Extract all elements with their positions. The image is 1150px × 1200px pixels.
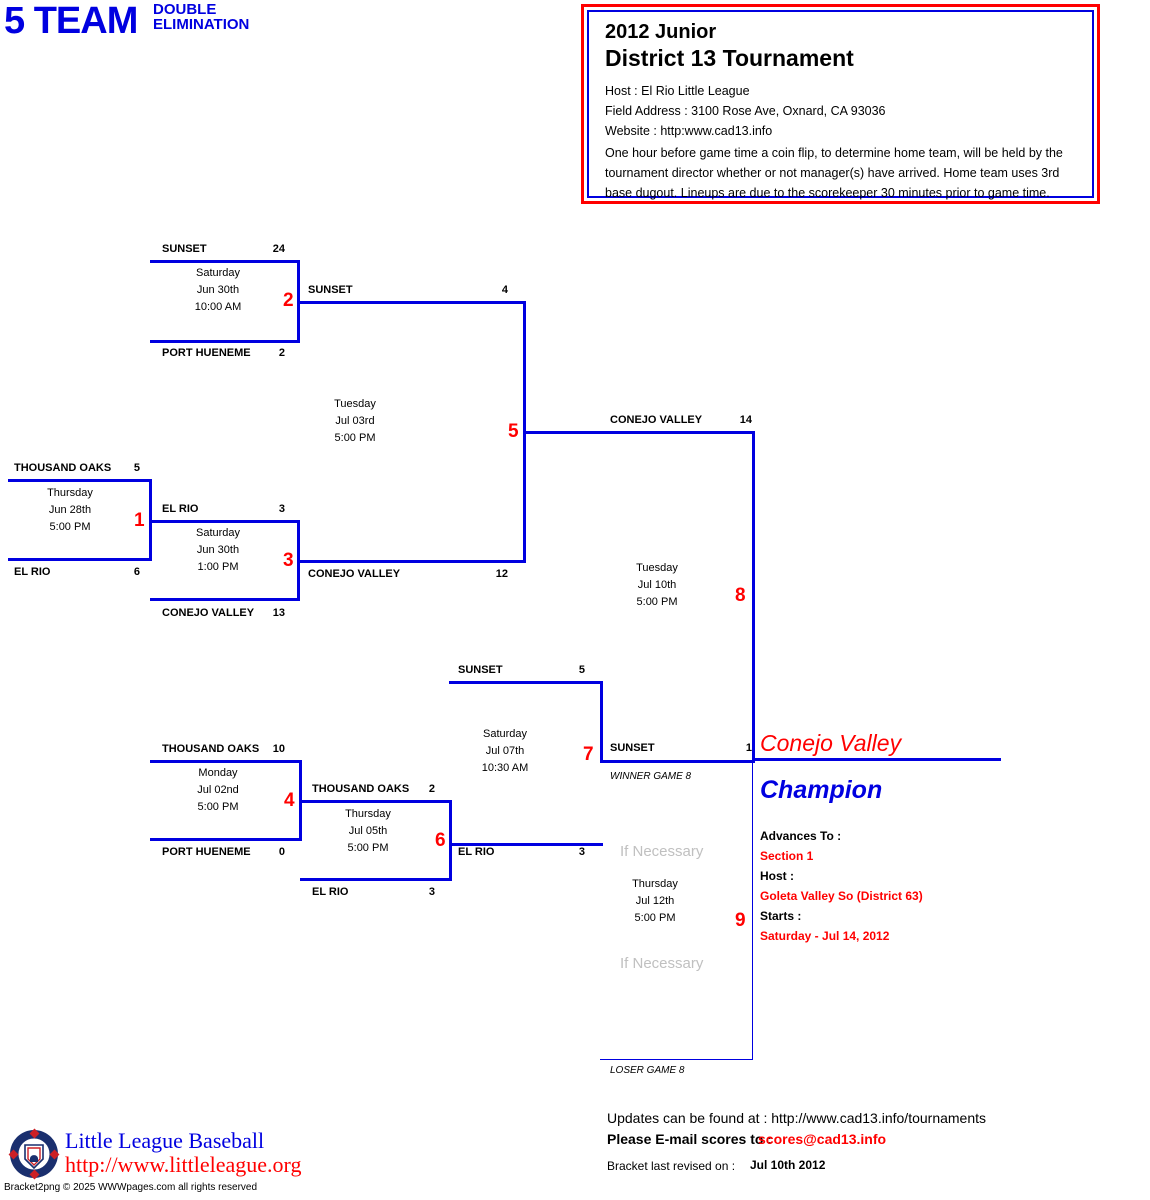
starts-label: Starts : — [760, 909, 801, 923]
game-7-number: 7 — [583, 744, 594, 766]
game-4-time: 5:00 PM — [163, 799, 273, 816]
little-league-name: Little League Baseball — [65, 1128, 264, 1154]
game-8-bottom-score: 1 — [722, 742, 752, 754]
game-5-bottom-line — [297, 560, 526, 563]
game-9-number: 9 — [735, 910, 746, 932]
game-8-datetime: Tuesday Jul 10th 5:00 PM — [602, 560, 712, 611]
game-7-top-team: SUNSET — [458, 664, 503, 676]
game-6-datetime: Thursday Jul 05th 5:00 PM — [313, 806, 423, 857]
game-2-time: 10:00 AM — [163, 299, 273, 316]
game-8-right-line — [752, 431, 755, 762]
game-2-number: 2 — [283, 290, 294, 312]
winner-game-8-note: WINNER GAME 8 — [610, 771, 691, 782]
game-6-time: 5:00 PM — [313, 840, 423, 857]
game-1-top-score: 5 — [110, 462, 140, 474]
copyright-text: Bracket2png © 2025 WWWpages.com all righ… — [4, 1182, 257, 1193]
game-2-bottom-score: 2 — [255, 347, 285, 359]
game-7-bottom-score: 3 — [555, 846, 585, 858]
game-6-top-team: THOUSAND OAKS — [312, 783, 409, 795]
tournament-name: District 13 Tournament — [605, 45, 854, 72]
game-5-date: Jul 03rd — [300, 413, 410, 430]
game-1-time: 5:00 PM — [15, 519, 125, 536]
champion-label: Champion — [760, 776, 882, 805]
game-5-time: 5:00 PM — [300, 430, 410, 447]
page-subtitle: DOUBLE ELIMINATION — [153, 2, 283, 32]
game-3-number: 3 — [283, 550, 294, 572]
game-6-bottom-score: 3 — [405, 886, 435, 898]
game-7-bottom-team: EL RIO — [458, 846, 494, 858]
game-4-date: Jul 02nd — [163, 782, 273, 799]
game-1-top-team: THOUSAND OAKS — [14, 462, 111, 474]
game-9-datetime: Thursday Jul 12th 5:00 PM — [600, 876, 710, 927]
game-9-top-team: If Necessary — [620, 843, 703, 860]
game-8-top-line — [523, 431, 755, 434]
game-7-top-score: 5 — [555, 664, 585, 676]
page-subtitle-line2: ELIMINATION — [153, 17, 283, 32]
game-1-top-line — [8, 479, 152, 482]
game-9-right-line — [752, 762, 753, 1060]
game-3-bottom-team: CONEJO VALLEY — [162, 607, 254, 619]
game-5-top-team: SUNSET — [308, 284, 353, 296]
game-6-top-line — [299, 800, 452, 803]
game-2-date: Jun 30th — [163, 282, 273, 299]
game-1-bottom-team: EL RIO — [14, 566, 50, 578]
game-5-top-line — [297, 301, 526, 304]
game-2-top-team: SUNSET — [162, 243, 207, 255]
game-4-bottom-score: 0 — [255, 846, 285, 858]
tournament-field-address: Field Address : 3100 Rose Ave, Oxnard, C… — [605, 104, 886, 118]
game-1-date: Jun 28th — [15, 502, 125, 519]
game-5-day: Tuesday — [300, 396, 410, 413]
game-1-datetime: Thursday Jun 28th 5:00 PM — [15, 485, 125, 536]
game-4-top-team: THOUSAND OAKS — [162, 743, 259, 755]
game-1-bottom-score: 6 — [110, 566, 140, 578]
game-3-top-team: EL RIO — [162, 503, 198, 515]
game-3-bottom-line — [150, 598, 300, 601]
game-6-bottom-team: EL RIO — [312, 886, 348, 898]
game-2-datetime: Saturday Jun 30th 10:00 AM — [163, 265, 273, 316]
last-revised-label: Bracket last revised on : — [607, 1159, 735, 1173]
game-1-bottom-line — [8, 558, 152, 561]
updates-text: Updates can be found at : http://www.cad… — [607, 1110, 986, 1126]
game-4-number: 4 — [284, 790, 295, 812]
game-7-time: 10:30 AM — [450, 760, 560, 777]
game-2-bottom-line — [150, 340, 300, 343]
game-2-top-line — [150, 260, 300, 263]
game-5-datetime: Tuesday Jul 03rd 5:00 PM — [300, 396, 410, 447]
game-4-top-score: 10 — [255, 743, 285, 755]
game-8-date: Jul 10th — [602, 577, 712, 594]
loser-game-8-note: LOSER GAME 8 — [610, 1065, 684, 1076]
game-3-top-line — [149, 520, 300, 523]
game-6-bottom-line — [300, 878, 452, 881]
tournament-info-box: 2012 Junior District 13 Tournament Host … — [581, 4, 1100, 204]
game-4-bottom-line — [150, 838, 302, 841]
next-host-label: Host : — [760, 869, 794, 883]
game-3-top-score: 3 — [255, 503, 285, 515]
game-2-top-score: 24 — [255, 243, 285, 255]
game-6-date: Jul 05th — [313, 823, 423, 840]
tournament-host: Host : El Rio Little League — [605, 84, 750, 98]
game-7-right-line — [600, 681, 603, 763]
little-league-url[interactable]: http://www.littleleague.org — [65, 1152, 301, 1178]
game-6-day: Thursday — [313, 806, 423, 823]
game-9-bottom-team: If Necessary — [620, 955, 703, 972]
game-3-bottom-score: 13 — [255, 607, 285, 619]
game-4-top-line — [150, 760, 302, 763]
game-3-date: Jun 30th — [163, 542, 273, 559]
game-5-bottom-score: 12 — [478, 568, 508, 580]
game-2-day: Saturday — [163, 265, 273, 282]
email-scores-label: Please E-mail scores to : — [607, 1131, 772, 1147]
game-8-day: Tuesday — [602, 560, 712, 577]
game-7-top-line — [449, 681, 603, 684]
game-9-time: 5:00 PM — [600, 910, 710, 927]
page-subtitle-line1: DOUBLE — [153, 2, 283, 17]
advances-to-label: Advances To : — [760, 829, 841, 843]
game-7-day: Saturday — [450, 726, 560, 743]
game-4-day: Monday — [163, 765, 273, 782]
game-7-date: Jul 07th — [450, 743, 560, 760]
champion-team-name: Conejo Valley — [760, 730, 901, 757]
advances-to-value: Section 1 — [760, 849, 813, 863]
game-9-day: Thursday — [600, 876, 710, 893]
game-5-number: 5 — [508, 421, 519, 443]
game-4-datetime: Monday Jul 02nd 5:00 PM — [163, 765, 273, 816]
game-8-bottom-line — [600, 760, 755, 763]
game-7-datetime: Saturday Jul 07th 10:30 AM — [450, 726, 560, 777]
game-3-time: 1:00 PM — [163, 559, 273, 576]
game-8-time: 5:00 PM — [602, 594, 712, 611]
game-8-bottom-team: SUNSET — [610, 742, 655, 754]
game-6-number: 6 — [435, 830, 446, 852]
game-4-bottom-team: PORT HUENEME — [162, 846, 251, 858]
game-1-number: 1 — [134, 510, 145, 532]
page-title: 5 TEAM — [4, 2, 137, 40]
game-3-datetime: Saturday Jun 30th 1:00 PM — [163, 525, 273, 576]
game-8-number: 8 — [735, 585, 746, 607]
game-6-top-score: 2 — [405, 783, 435, 795]
tournament-rule-line1: One hour before game time a coin flip, t… — [605, 146, 1063, 160]
little-league-logo-icon — [8, 1128, 60, 1180]
game-3-day: Saturday — [163, 525, 273, 542]
last-revised-value: Jul 10th 2012 — [750, 1158, 825, 1172]
game-8-top-score: 14 — [722, 414, 752, 426]
email-scores-value[interactable]: scores@cad13.info — [758, 1131, 886, 1147]
game-5-bottom-team: CONEJO VALLEY — [308, 568, 400, 580]
tournament-rule-line3: base dugout. Lineups are due to the scor… — [605, 186, 1050, 200]
tournament-rule-line2: tournament director whether or not manag… — [605, 166, 1059, 180]
game-6-right-line — [449, 800, 452, 881]
game-9-date: Jul 12th — [600, 893, 710, 910]
starts-value: Saturday - Jul 14, 2012 — [760, 929, 889, 943]
game-8-top-team: CONEJO VALLEY — [610, 414, 702, 426]
game-1-day: Thursday — [15, 485, 125, 502]
tournament-info-inner-border: 2012 Junior District 13 Tournament Host … — [587, 10, 1094, 198]
game-5-top-score: 4 — [478, 284, 508, 296]
tournament-website: Website : http:www.cad13.info — [605, 124, 772, 138]
next-host-value: Goleta Valley So (District 63) — [760, 889, 923, 903]
tournament-year-division: 2012 Junior — [605, 21, 716, 44]
champion-line — [752, 758, 1001, 761]
game-2-bottom-team: PORT HUENEME — [162, 347, 251, 359]
game-9-bottom-line — [600, 1059, 753, 1060]
